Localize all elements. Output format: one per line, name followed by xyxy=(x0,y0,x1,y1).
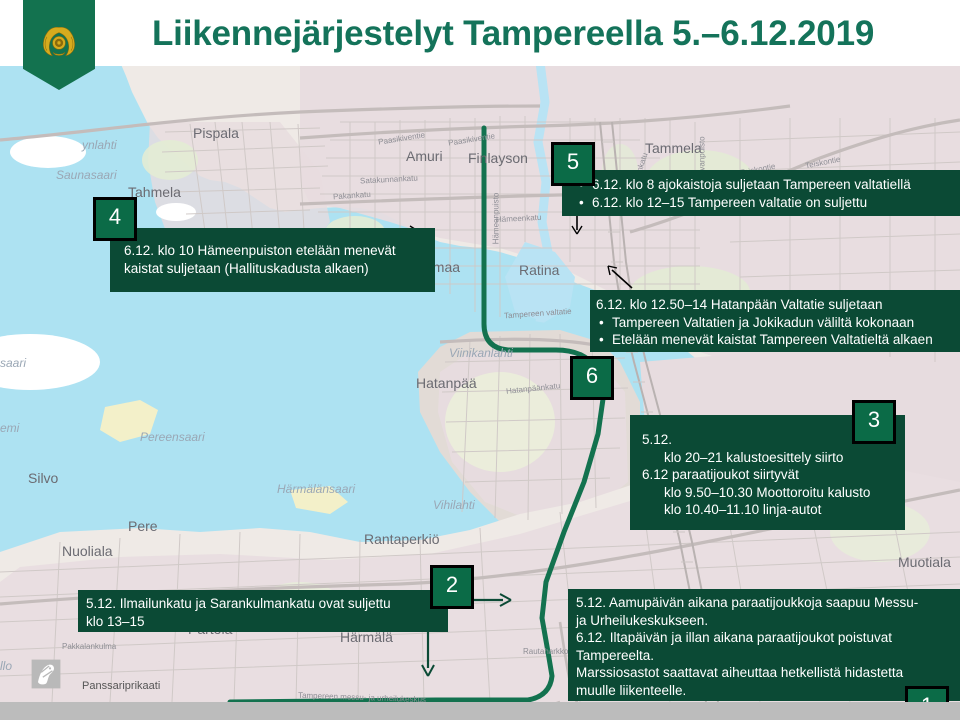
bottom-strip xyxy=(0,702,960,720)
info-box-2[interactable]: 5.12. Ilmailunkatu ja Sarankulmankatu ov… xyxy=(78,590,448,632)
info-box-3-line-2: 6.12 paraatijoukot siirtyvät xyxy=(642,466,905,484)
badge-6[interactable]: 6 xyxy=(570,356,614,400)
info-box-5-line-1: 6.12. klo 12–15 Tampereen valtatie on su… xyxy=(576,194,960,212)
info-box-4-line-0: 6.12. klo 10 Hämeenpuiston etelään menev… xyxy=(124,242,435,260)
info-box-2-line-1: klo 13–15 xyxy=(86,613,448,631)
info-box-6-line-0: 6.12. klo 12.50–14 Hatanpään Valtatie su… xyxy=(596,296,960,314)
badge-3[interactable]: 3 xyxy=(852,400,896,444)
info-box-4[interactable]: 6.12. klo 10 Hämeenpuiston etelään menev… xyxy=(110,228,435,292)
badge-2[interactable]: 2 xyxy=(430,565,474,609)
brand-banner xyxy=(23,0,95,90)
info-box-1-line-4: Marssiosastot saattavat aiheuttaa hetkel… xyxy=(576,664,960,682)
info-box-1[interactable]: 5.12. Aamupäivän aikana paraatijoukkoja … xyxy=(568,589,960,701)
info-box-6-line-2: Etelään menevät kaistat Tampereen Valtat… xyxy=(596,331,960,349)
footer-brand: Panssariprikaati xyxy=(82,680,160,692)
info-box-3-line-3: klo 9.50–10.30 Moottoroitu kalusto xyxy=(642,484,905,502)
badge-4[interactable]: 4 xyxy=(93,197,137,241)
info-box-5[interactable]: 6.12. klo 8 ajokaistoja suljetaan Tamper… xyxy=(562,170,960,216)
info-box-1-line-1: ja Urheilukeskukseen. xyxy=(576,612,960,630)
info-box-6-line-1: Tampereen Valtatien ja Jokikadun väliltä… xyxy=(596,314,960,332)
slide-root: PispalaAmuriFinlaysonTammelaKissanmaaTah… xyxy=(0,0,960,720)
info-box-1-line-3: Tampereelta. xyxy=(576,647,960,665)
info-box-6[interactable]: 6.12. klo 12.50–14 Hatanpään Valtatie su… xyxy=(590,290,960,352)
header-bar: Liikennejärjestelyt Tampereella 5.–6.12.… xyxy=(0,0,960,66)
badge-5[interactable]: 5 xyxy=(551,142,595,186)
info-box-1-line-0: 5.12. Aamupäivän aikana paraatijoukkoja … xyxy=(576,594,960,612)
page-title: Liikennejärjestelyt Tampereella 5.–6.12.… xyxy=(152,14,942,54)
info-box-3-line-1: klo 20–21 kalustoesittely siirto xyxy=(642,449,905,467)
info-box-5-line-0: 6.12. klo 8 ajokaistoja suljetaan Tamper… xyxy=(576,176,960,194)
info-box-2-line-0: 5.12. Ilmailunkatu ja Sarankulmankatu ov… xyxy=(86,595,448,613)
info-box-1-line-2: 6.12. Iltapäivän ja illan aikana paraati… xyxy=(576,629,960,647)
info-box-1-line-5: muulle liikenteelle. xyxy=(576,682,960,700)
lion-coat-of-arms-logo xyxy=(30,658,62,690)
info-box-4-line-1: kaistat suljetaan (Hallituskadusta alkae… xyxy=(124,260,435,278)
finnish-defence-forces-emblem xyxy=(37,24,81,60)
info-box-3-line-4: klo 10.40–11.10 linja-autot xyxy=(642,501,905,519)
